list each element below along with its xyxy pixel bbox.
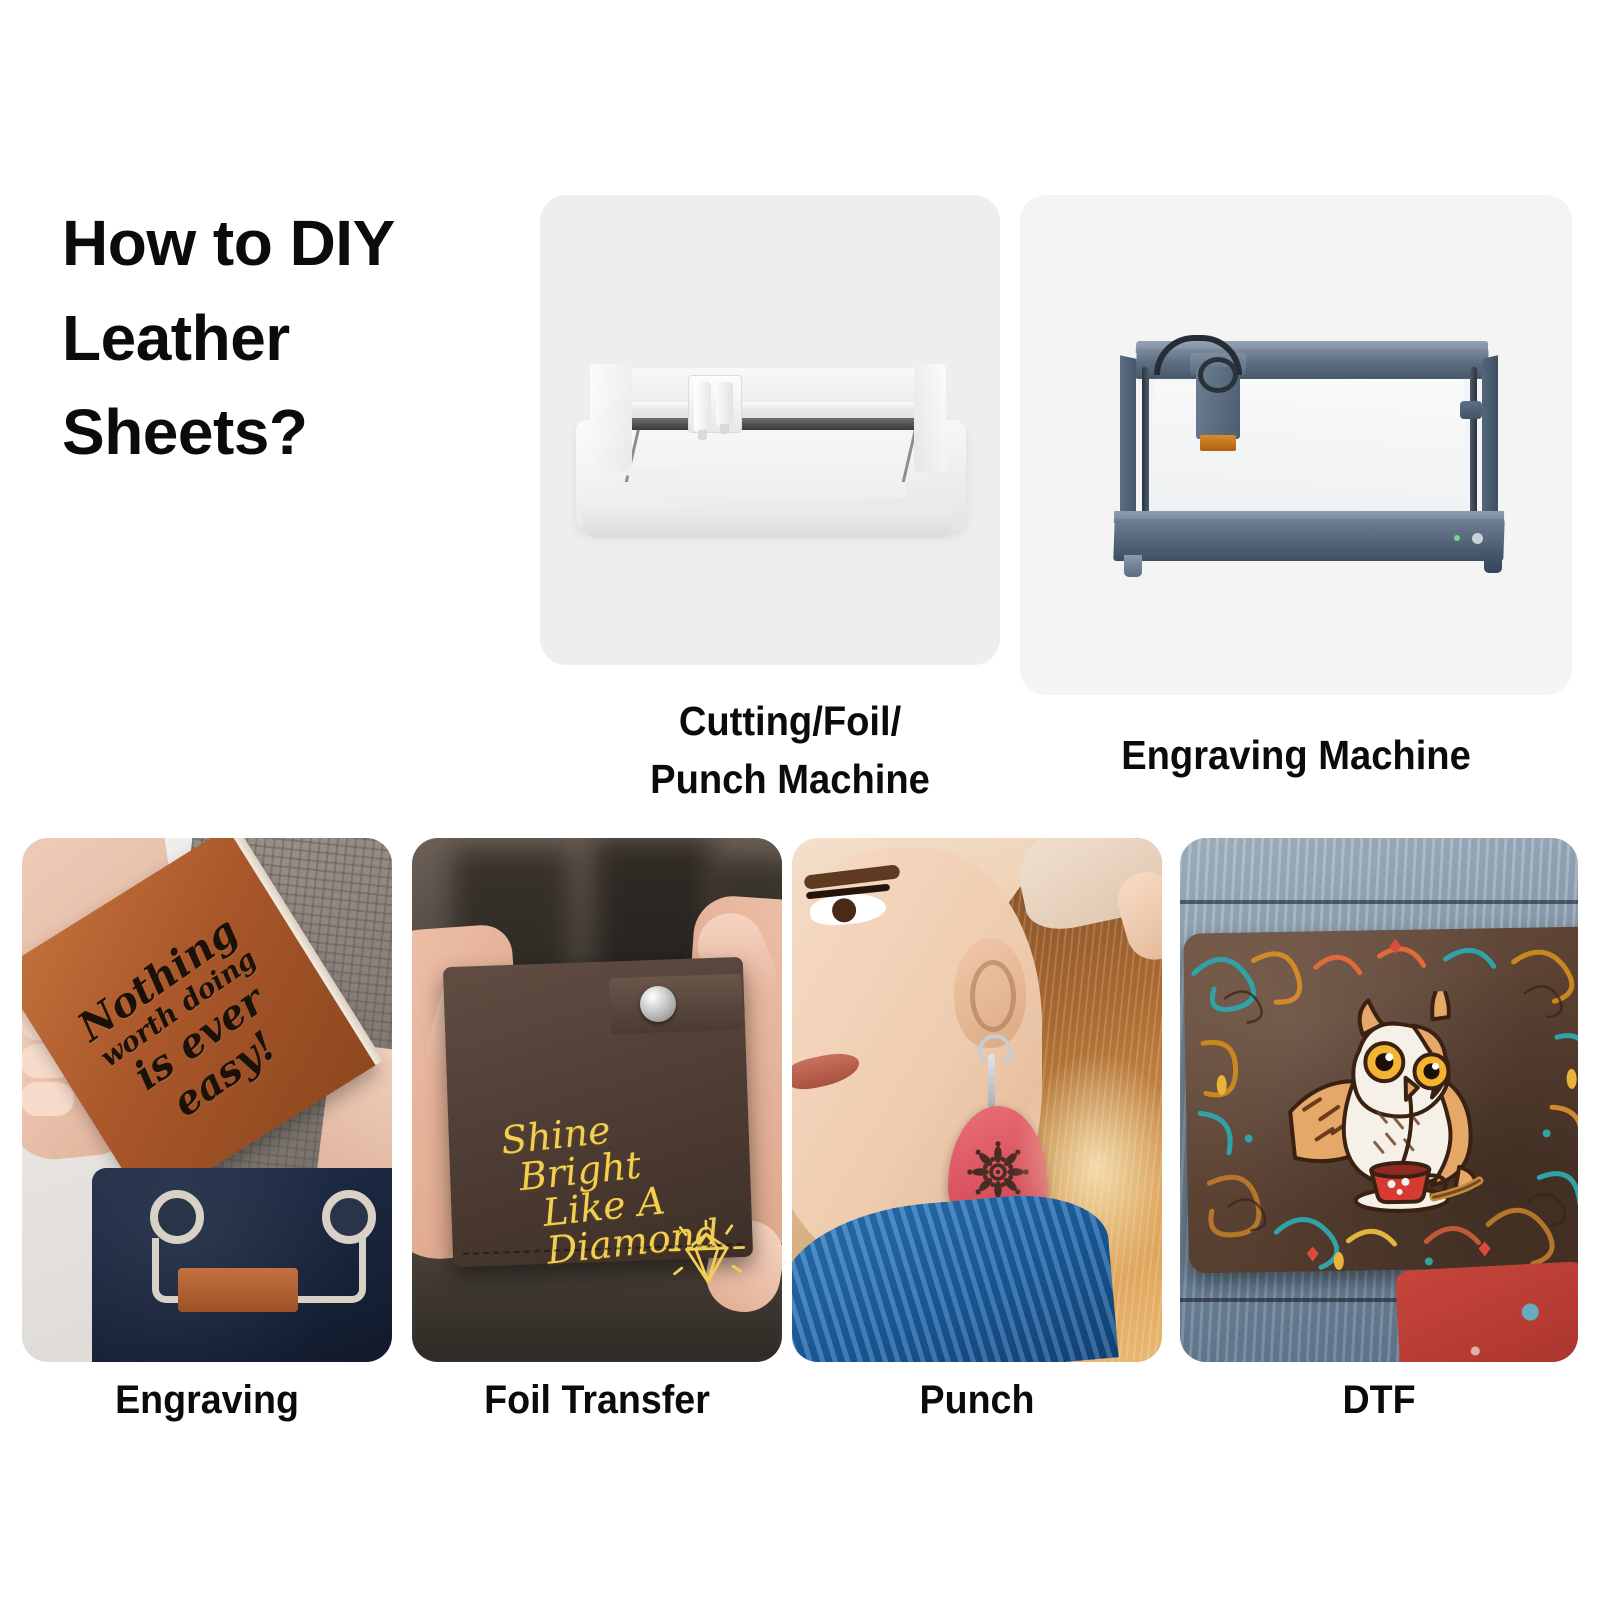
technique-label-foil-transfer: Foil Transfer	[423, 1378, 771, 1423]
bag-grommet-left	[150, 1190, 204, 1244]
machine-caption-line-1: Cutting/Foil/	[576, 692, 1004, 750]
technique-label-dtf: DTF	[1192, 1378, 1566, 1423]
machine-caption-engraving-text: Engraving Machine	[1058, 726, 1534, 784]
dtf-wood-plank-seam-1	[1180, 900, 1578, 904]
dtf-owl-illustration	[1280, 990, 1514, 1222]
engraving-photo-finger-3	[22, 1082, 74, 1116]
plotter-base-lower	[582, 508, 954, 538]
plotter-post-right	[914, 364, 946, 472]
bag-handle-grip	[178, 1268, 298, 1312]
dtf-second-printed-item	[1395, 1261, 1578, 1362]
technique-label-engraving: Engraving	[33, 1378, 381, 1423]
plotter-tool-pen	[716, 382, 733, 426]
engraver-laser-module	[1200, 435, 1236, 451]
machine-caption-engraving: Engraving Machine	[1058, 726, 1534, 784]
machine-image-cutting-foil-punch	[540, 195, 1000, 665]
plotter-tool-tip-left	[698, 430, 707, 440]
plotter-tool-tip-right	[720, 424, 729, 434]
infographic-page: How to DIY Leather Sheets? Cutting/Foil/…	[0, 0, 1600, 1600]
dtf-printed-leather-mat	[1183, 926, 1578, 1273]
punch-photo-ear	[954, 938, 1026, 1048]
engraver-front-rail	[1113, 519, 1504, 561]
technique-image-punch	[792, 838, 1162, 1362]
engraver-belt-knob	[1460, 401, 1482, 419]
engraver-side-left	[1120, 355, 1136, 528]
earring-chain	[988, 1054, 995, 1108]
earring-hook	[978, 1034, 1012, 1068]
plotter-rail-upper	[622, 402, 922, 412]
bag-grommet-right	[322, 1190, 376, 1244]
machine-caption-line-2: Punch Machine	[576, 750, 1004, 808]
engraver-cable-coil	[1198, 357, 1238, 393]
plotter-front-lip	[626, 466, 686, 476]
wallet-snap-strap	[609, 974, 743, 1035]
punch-photo-iris	[831, 897, 857, 923]
engraver-foot-left	[1124, 555, 1142, 577]
page-title-line-1: How to DIY	[62, 196, 502, 291]
engraver-foot-right	[1484, 551, 1502, 573]
machine-image-engraving	[1020, 195, 1572, 695]
page-title-line-2: Leather	[62, 291, 502, 386]
laser-engraver-illustration	[1098, 305, 1518, 595]
machine-caption-cutting-foil-punch: Cutting/Foil/ Punch Machine	[576, 692, 1004, 808]
engraver-rod-right	[1470, 366, 1477, 525]
plotter-post-left	[590, 364, 632, 472]
technique-image-dtf	[1180, 838, 1578, 1362]
cutting-plotter-illustration	[576, 320, 971, 555]
plotter-tool-blade	[694, 382, 711, 432]
page-title-line-3: Sheets?	[62, 385, 502, 480]
technique-label-punch: Punch	[803, 1378, 1151, 1423]
plotter-bed	[616, 426, 906, 498]
wallet-snap-button	[640, 986, 676, 1022]
engraver-power-button[interactable]	[1472, 533, 1483, 544]
engraver-side-right	[1482, 355, 1498, 528]
page-title: How to DIY Leather Sheets?	[62, 196, 502, 480]
technique-image-foil-transfer: Shine Bright Like A Diamond	[412, 838, 782, 1362]
plotter-rail	[622, 418, 922, 430]
foil-diamond-icon	[659, 1207, 754, 1302]
engraver-status-led	[1454, 535, 1460, 541]
engraver-rod-left	[1142, 366, 1149, 525]
engraved-quote-text: Nothing worth doing is ever easy!	[64, 904, 319, 1149]
technique-image-engraving: Nothing worth doing is ever easy!	[22, 838, 392, 1362]
